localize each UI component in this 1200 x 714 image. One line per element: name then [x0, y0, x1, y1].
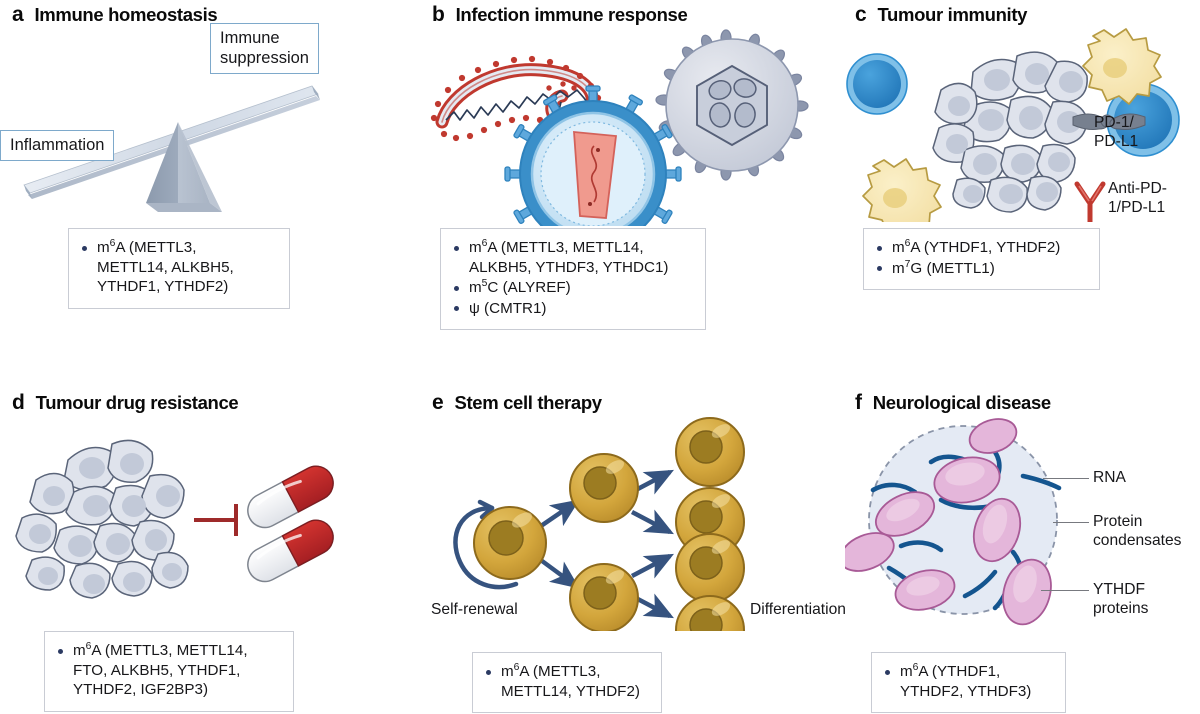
- panel-e-legend-list: m6A (METTL3, METTL14, YTHDF2): [485, 662, 649, 701]
- panel-b-legend-box: m6A (METTL3, METTL14, ALKBH5, YTHDF3, YT…: [440, 228, 706, 330]
- label-differentiation: Differentiation: [750, 601, 846, 620]
- panel-e: e Stem cell therapy: [420, 388, 840, 714]
- legend-item: m6A (YTHDF1, YTHDF2, YTHDF3): [884, 662, 1053, 701]
- enveloped-virus: [505, 86, 681, 226]
- legend-item: m6A (METTL3, METTL14, ALKBH5, YTHDF3, YT…: [453, 238, 693, 277]
- panel-d-header: d Tumour drug resistance: [12, 391, 400, 415]
- panel-a-legend-list: m6A (METTL3, METTL14, ALKBH5, YTHDF1, YT…: [81, 238, 277, 297]
- drug-resistance-illustration: [0, 418, 400, 618]
- legend-item: m6A (METTL3, METTL14, FTO, ALKBH5, YTHDF…: [57, 641, 281, 700]
- stem-cell: [676, 596, 744, 631]
- panel-f-legend-list: m6A (YTHDF1, YTHDF2, YTHDF3): [884, 662, 1053, 701]
- legend-item: m6A (METTL3, METTL14, ALKBH5, YTHDF1, YT…: [81, 238, 277, 297]
- label-protein-condensates: Protein condensates: [1093, 513, 1181, 550]
- panel-b-artwork: [420, 26, 820, 226]
- panel-a-artwork: Inflammation Immune suppression: [0, 22, 400, 212]
- fulcrum-base: [146, 203, 222, 212]
- panel-b: b Infection immune response: [420, 0, 820, 340]
- stem-cell: [676, 534, 744, 602]
- label-anti-pd1-pdl1: Anti-PD-1/PD-L1: [1108, 180, 1200, 217]
- panel-e-title: Stem cell therapy: [454, 392, 601, 414]
- dendritic-cell-bottom: [863, 159, 941, 222]
- panel-c: c Tumour immunity: [845, 0, 1200, 300]
- panel-f-artwork: RNA Protein condensates YTHDF proteins: [845, 418, 1200, 633]
- panel-f-header: f Neurological disease: [855, 391, 1200, 415]
- panel-f: f Neurological disease: [845, 388, 1200, 714]
- virus-particles-illustration: [420, 26, 820, 226]
- icosahedral-virus: [656, 30, 808, 180]
- dendritic-cell-top: [1083, 29, 1161, 104]
- panel-d-legend-list: m6A (METTL3, METTL14, FTO, ALKBH5, YTHDF…: [57, 641, 281, 700]
- panel-a-legend-box: m6A (METTL3, METTL14, ALKBH5, YTHDF1, YT…: [68, 228, 290, 309]
- legend-item: m7G (METTL1): [876, 259, 1087, 279]
- figure-root: a Immune homeostasis: [0, 0, 1200, 714]
- stem-cell: [676, 418, 744, 486]
- stem-cell-differentiation-illustration: [420, 416, 840, 631]
- legend-item: m6A (YTHDF1, YTHDF2): [876, 238, 1087, 258]
- label-self-renewal: Self-renewal: [431, 601, 518, 620]
- panel-b-legend-list: m6A (METTL3, METTL14, ALKBH5, YTHDF3, YT…: [453, 238, 693, 318]
- label-pd1-pdl1: PD-1/ PD-L1: [1094, 114, 1138, 151]
- panel-e-letter: e: [432, 391, 443, 415]
- legend-item: m6A (METTL3, METTL14, YTHDF2): [485, 662, 649, 701]
- panel-b-letter: b: [432, 3, 445, 27]
- stem-cell: [474, 507, 546, 579]
- label-rna: RNA: [1093, 469, 1126, 488]
- callout-inflammation: Inflammation: [0, 130, 114, 161]
- stem-cell: [570, 564, 638, 631]
- panel-f-legend-box: m6A (YTHDF1, YTHDF2, YTHDF3): [871, 652, 1066, 713]
- stem-cell: [570, 454, 638, 522]
- panel-f-title: Neurological disease: [873, 392, 1051, 414]
- panel-e-artwork: Self-renewal Differentiation: [420, 416, 840, 631]
- lymphocyte-left: [847, 54, 907, 114]
- panel-c-legend-list: m6A (YTHDF1, YTHDF2) m7G (METTL1): [876, 238, 1087, 278]
- inhibition-arrow: [196, 506, 236, 534]
- leader-line-ythdf: [1041, 590, 1089, 591]
- legend-item: ψ (CMTR1): [453, 299, 693, 319]
- panel-b-header: b Infection immune response: [432, 3, 820, 27]
- panel-c-legend-box: m6A (YTHDF1, YTHDF2) m7G (METTL1): [863, 228, 1100, 290]
- legend-item: m5C (ALYREF): [453, 278, 693, 298]
- leader-line-rna: [1043, 478, 1089, 479]
- balance-scale-illustration: [0, 22, 400, 212]
- panel-d-legend-box: m6A (METTL3, METTL14, FTO, ALKBH5, YTHDF…: [44, 631, 294, 712]
- panel-a: a Immune homeostasis: [0, 0, 400, 340]
- label-ythdf-proteins: YTHDF proteins: [1093, 581, 1148, 618]
- panel-c-artwork: PD-1/ PD-L1 Anti-PD-1/PD-L1: [845, 22, 1200, 222]
- panel-d-letter: d: [12, 391, 25, 415]
- panel-d-artwork: [0, 418, 400, 618]
- panel-d: d Tumour drug resistance: [0, 388, 400, 714]
- panel-e-legend-box: m6A (METTL3, METTL14, YTHDF2): [472, 652, 662, 713]
- panel-b-title: Infection immune response: [456, 4, 688, 26]
- panel-e-header: e Stem cell therapy: [432, 391, 840, 415]
- panel-f-letter: f: [855, 391, 862, 415]
- callout-immune-suppression: Immune suppression: [210, 23, 319, 74]
- leader-line-condensates: [1053, 522, 1089, 523]
- panel-d-title: Tumour drug resistance: [36, 392, 239, 414]
